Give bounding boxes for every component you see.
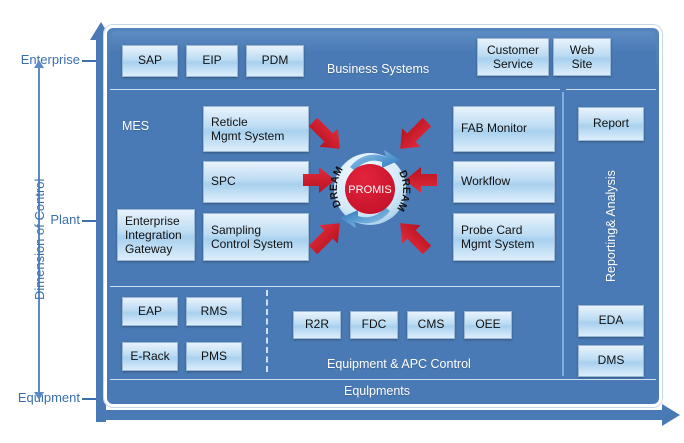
box-report[interactable]: Report: [578, 107, 644, 141]
box-customer-service[interactable]: Customer Service: [477, 38, 549, 76]
box-eap[interactable]: EAP: [122, 297, 178, 326]
box-web-site[interactable]: Web Site: [553, 38, 611, 76]
box-reticle-mgmt-system[interactable]: Reticle Mgmt System: [203, 106, 309, 152]
box-r2r[interactable]: R2R: [293, 311, 341, 339]
reporting-divider: [562, 92, 564, 376]
dimension-axis-arrow-down: [34, 392, 44, 400]
promis-core-label: PROMIS: [348, 184, 391, 196]
box-oee[interactable]: OEE: [464, 311, 512, 339]
box-spc[interactable]: SPC: [203, 161, 309, 203]
box-dms[interactable]: DMS: [578, 345, 644, 377]
box-fdc[interactable]: FDC: [350, 311, 398, 339]
equipments-label: Equlpments: [344, 384, 410, 398]
mes-label: MES: [122, 119, 149, 133]
box-workflow[interactable]: Workflow: [453, 161, 555, 203]
horizontal-flow-arrow: [100, 404, 680, 426]
horizontal-flow-shaft: [100, 410, 662, 420]
reporting-analysis-label: Reporting& Analysis: [604, 170, 618, 282]
box-e-rack[interactable]: E-Rack: [122, 342, 178, 371]
box-probe-card-mgmt-system[interactable]: Probe Card Mgmt System: [453, 213, 555, 261]
box-enterprise-integration-gateway[interactable]: Enterprise Integration Gateway: [117, 209, 195, 261]
box-pms[interactable]: PMS: [186, 342, 242, 371]
box-sap[interactable]: SAP: [122, 45, 178, 77]
box-sampling-control-system[interactable]: Sampling Control System: [203, 213, 309, 261]
dimension-of-control-label: Dimension of Control: [32, 179, 47, 300]
box-eip[interactable]: EIP: [186, 45, 238, 77]
box-fab-monitor[interactable]: FAB Monitor: [453, 106, 555, 152]
box-eda[interactable]: EDA: [578, 305, 644, 337]
box-rms[interactable]: RMS: [186, 297, 242, 326]
business-systems-label: Business Systems: [327, 62, 429, 76]
equipment-apc-control-label: Equipment & APC Control: [327, 357, 471, 371]
box-pdm[interactable]: PDM: [246, 45, 304, 77]
promis-dreams-wheel: DREAMS DREAMS PROMIS: [320, 133, 420, 245]
dimension-axis-arrow-up: [34, 60, 44, 68]
box-cms[interactable]: CMS: [407, 311, 455, 339]
apc-dashed-divider: [266, 290, 268, 372]
horizontal-flow-arrowhead: [662, 404, 680, 426]
